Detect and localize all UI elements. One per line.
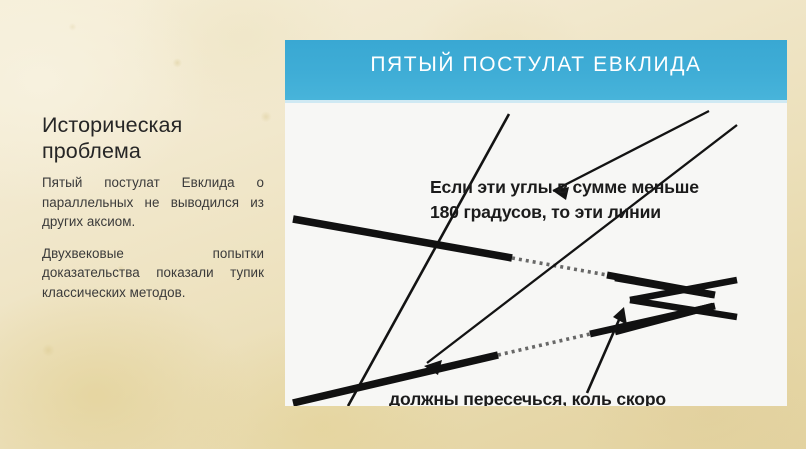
caption-bottom: должны пересечься, коль скоро продолжены…: [389, 387, 671, 406]
caption-top: Если эти углы в сумме меньше 180 градусо…: [430, 175, 699, 225]
illustration-panel: ПЯТЫЙ ПОСТУЛАТ ЕВКЛИДА: [285, 40, 787, 406]
angle-arrow-lower-shaft: [427, 125, 737, 363]
intersection-arrow-head: [613, 307, 627, 325]
geometry-figure: Если эти углы в сумме меньше 180 градусо…: [285, 103, 787, 406]
body-paragraph-1: Пятый постулат Евклида о параллельных не…: [42, 173, 264, 232]
caption-top-line-1: Если эти углы в сумме меньше: [430, 175, 699, 200]
lower-ray-dashed-extension: [498, 334, 590, 355]
slide-canvas: Историческая проблема Пятый постулат Евк…: [0, 0, 806, 449]
illustration-banner-title: ПЯТЫЙ ПОСТУЛАТ ЕВКЛИДА: [285, 53, 787, 77]
caption-top-line-2: 180 градусов, то эти линии: [430, 200, 699, 225]
body-paragraph-2: Двухвековые попытки доказательства показ…: [42, 244, 264, 303]
page-title: Историческая проблема: [42, 112, 264, 164]
text-column: Историческая проблема Пятый постулат Евк…: [42, 112, 264, 302]
caption-bottom-line-1: должны пересечься, коль скоро: [389, 387, 671, 406]
intersection-arrow-shaft: [587, 313, 622, 393]
geometry-figure-svg: [285, 103, 787, 406]
